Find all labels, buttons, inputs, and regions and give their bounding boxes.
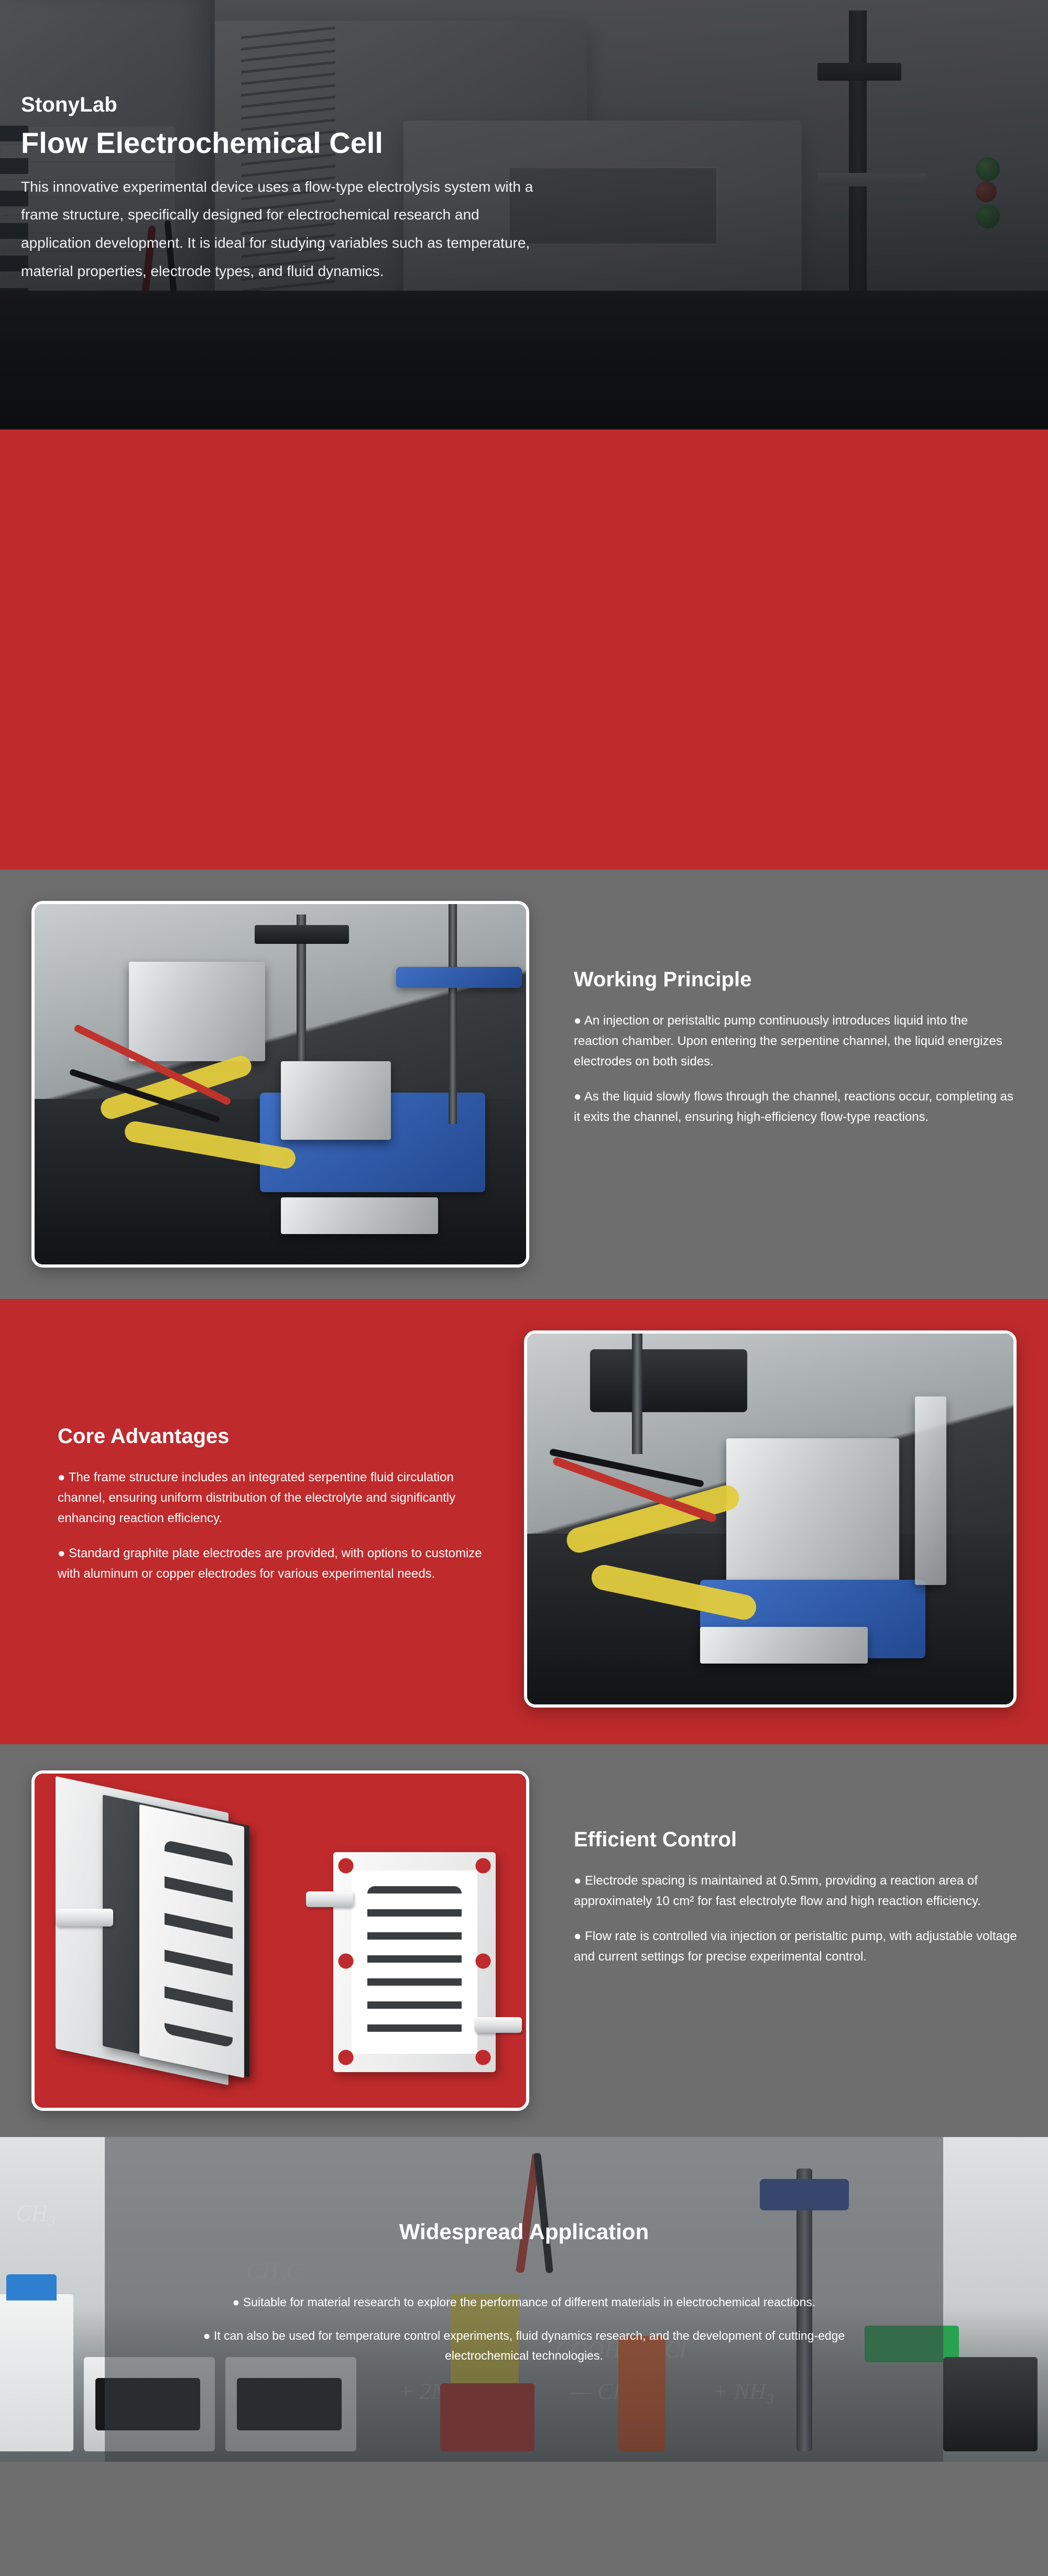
working-principle-heading: Working Principle [574, 968, 1014, 991]
efficient-control-bullet-2: ● Flow rate is controlled via injection … [574, 1927, 1024, 1967]
application-copy: Widespread Application ● Suitable for ma… [105, 2137, 943, 2462]
working-principle-section: Working Principle ● An injection or peri… [0, 869, 1048, 1299]
core-advantages-image [524, 1330, 1017, 1708]
widespread-application-section: CH₃ CH₃C COOH + HCl + 2NH₃ — CH₃ + NH₃ [0, 2137, 1048, 2462]
widespread-application-bullet-1: ● Suitable for material research to expl… [233, 2293, 816, 2313]
efficient-control-image [31, 1770, 529, 2111]
working-principle-bullet-2: ● As the liquid slowly flows through the… [574, 1087, 1014, 1128]
control-cell-serpentine [165, 1840, 233, 2048]
core-advantages-section: Core Advantages ● The frame structure in… [0, 1299, 1048, 1744]
working-principle-image [31, 901, 529, 1268]
page-title: Flow Electrochemical Cell [21, 127, 555, 159]
control-flat-screw-holes [333, 1852, 496, 2072]
widespread-application-heading: Widespread Application [399, 2219, 649, 2244]
widespread-application-bullet-2: ● It can also be used for temperature co… [186, 2326, 862, 2366]
working-principle-text: Working Principle ● An injection or peri… [574, 968, 1014, 1142]
core-advantages-heading: Core Advantages [58, 1425, 498, 1448]
product-infographic-page: StonyLab Flow Electrochemical Cell This … [0, 0, 1048, 2576]
product-structure-section: Product Structure [0, 430, 1048, 869]
core-advantages-text: Core Advantages ● The frame structure in… [58, 1425, 498, 1599]
efficient-control-bullet-1: ● Electrode spacing is maintained at 0.5… [574, 1871, 1024, 1912]
hero-description: This innovative experimental device uses… [21, 173, 545, 285]
efficient-control-text: Efficient Control ● Electrode spacing is… [574, 1828, 1024, 1982]
hero-section: StonyLab Flow Electrochemical Cell This … [0, 0, 1048, 430]
core-advantages-bullet-2: ● Standard graphite plate electrodes are… [58, 1544, 498, 1584]
efficient-control-heading: Efficient Control [574, 1828, 1024, 1851]
control-cell-inlet-left [56, 1909, 113, 1927]
working-principle-bullet-1: ● An injection or peristaltic pump conti… [574, 1011, 1014, 1072]
core-advantages-bullet-1: ● The frame structure includes an integr… [58, 1468, 498, 1529]
brand-logo-text: StonyLab [21, 93, 555, 116]
hero-copy: StonyLab Flow Electrochemical Cell This … [21, 93, 555, 285]
efficient-control-section: Efficient Control ● Electrode spacing is… [0, 1744, 1048, 2137]
exploded-diagram: Outer Fixed Aluminum Plate B Fixing Scre… [0, 430, 1048, 869]
